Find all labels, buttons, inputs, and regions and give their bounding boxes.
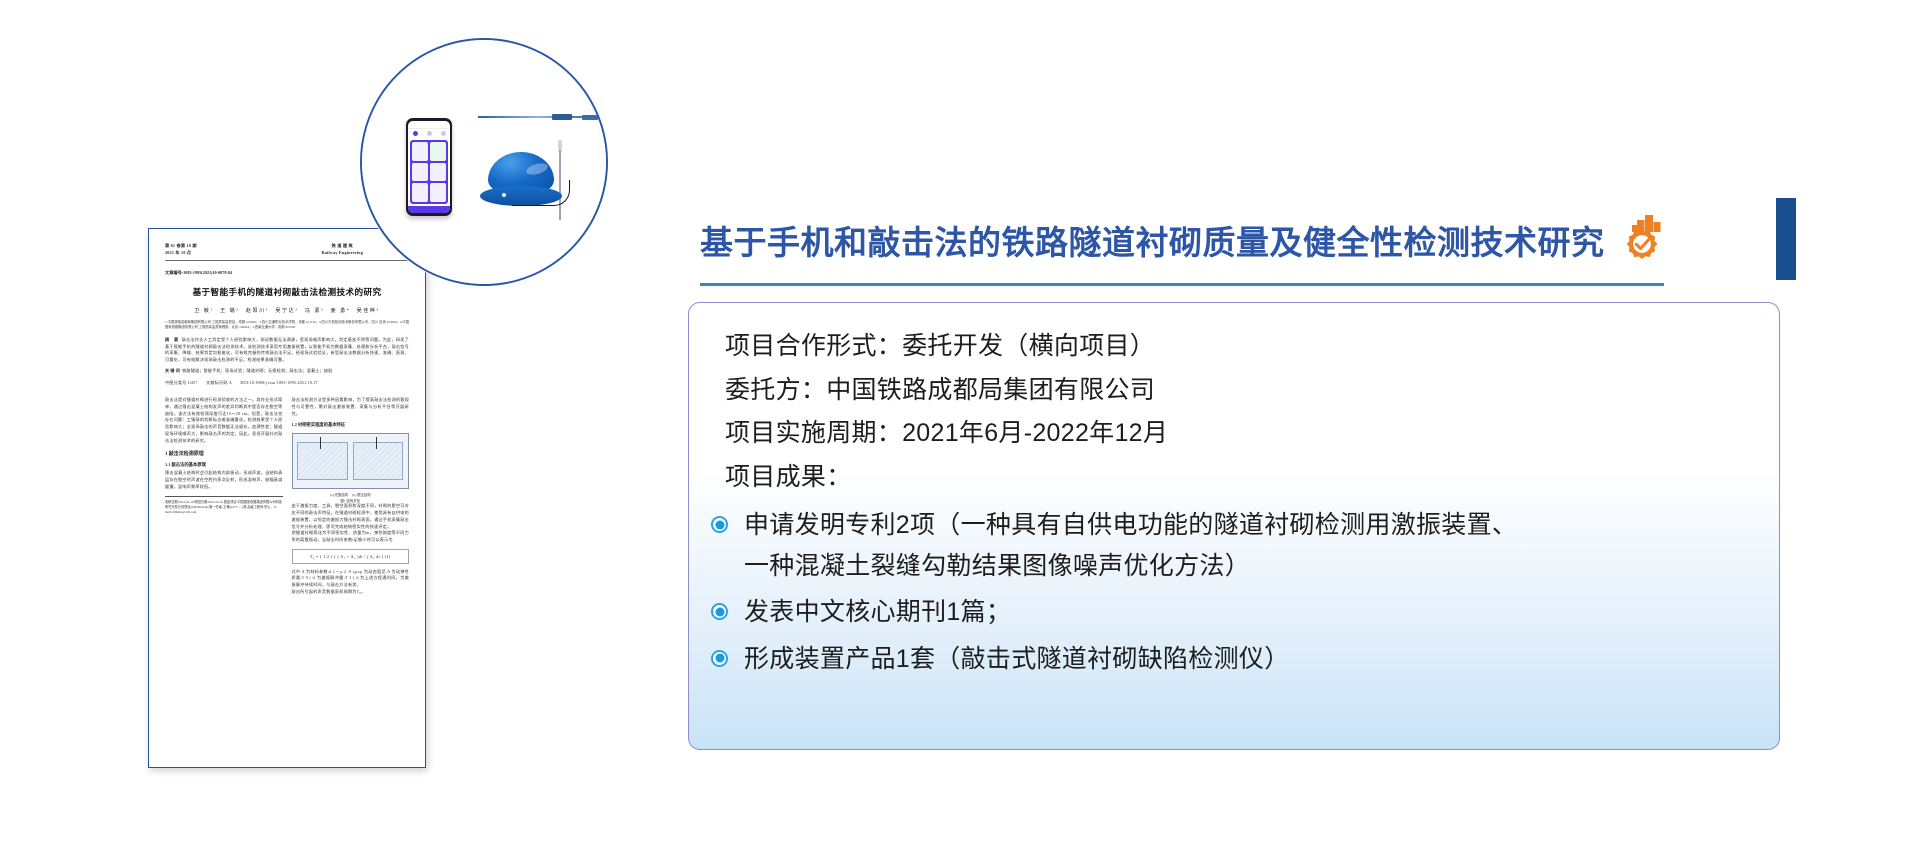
photo-stage xyxy=(362,40,606,284)
helmet-vent xyxy=(502,193,506,197)
phone-app-icons xyxy=(408,129,450,138)
bullet-text-2: 发表中文核心期刊1篇； xyxy=(744,592,1011,633)
page-title: 基于手机和敲击法的铁路隧道衬砌质量及健全性检测技术研究 xyxy=(700,226,1605,259)
paper-affiliations: 1.中国铁路成都局集团有限公司 工程质量监督站，成都 610000；2.四川交通… xyxy=(165,320,409,330)
paper-columns: 敲击法是对隧道衬砌进行检测验收的方法之一。其作业形式简单，通过锤击混凝土结构发声… xyxy=(165,397,409,595)
info-line-outcomes: 项目成果： xyxy=(725,456,1745,500)
bullet-1-line-2: 一种混凝土裂缝勾勒结果图像噪声优化方法） xyxy=(744,546,1517,587)
paper-figure-1 xyxy=(292,433,410,489)
section-title-row: 基于手机和敲击法的铁路隧道衬砌质量及健全性检测技术研究 xyxy=(700,212,1720,272)
list-item: 申请发明专利2项（一种具有自供电功能的隧道衬砌检测用激振装置、 一种混凝土裂缝勾… xyxy=(725,505,1745,586)
paper-footnote: 收稿日期:2021-03-10;修回日期:2021-04-10 基金项目:中国国… xyxy=(165,496,283,515)
paper-heading-1-1: 1.1 敲击法的基本原理 xyxy=(165,462,283,468)
phone-cell-5 xyxy=(412,183,428,202)
bullet-marker-icon xyxy=(711,603,728,620)
list-item: 发表中文核心期刊1篇； xyxy=(725,592,1745,633)
phone-icon-1 xyxy=(413,131,418,136)
phone-cell-4 xyxy=(430,163,446,182)
paper-body-right-1: 由于激振力度、工具、脱空面积和深度不同，衬砌的脱空可对应不同的敲击声特征。在隧道… xyxy=(292,503,410,530)
info-line-client: 委托方：中国铁路成都局集团有限公司 xyxy=(725,369,1745,413)
phone-icon-2 xyxy=(427,131,432,136)
phone-screen xyxy=(408,121,450,213)
paper-figure-subcaptions: (a) 完整结构 (b) 脱空结构 xyxy=(292,492,410,497)
paper-formula-1: T₀ = ( 1/2 )·( ( A₁ + A₂ )dt / ∫ A₁ dt )… xyxy=(292,549,410,564)
bullet-text-3: 形成装置产品1套（敲击式隧道衬砌缺陷检测仪） xyxy=(744,639,1290,680)
paper-body-right-3: 式中:A 为材料参数;d 1 = μ 2 :0 ≤μ≤μ 为动态阻尼;A 为动弹… xyxy=(292,569,410,589)
bullet-marker-icon xyxy=(711,650,728,667)
paper-journal-en: Railway Engineering xyxy=(322,250,363,257)
paper-body-right-2: 把隧道衬砌简化为不同密实性、质量为m，弹性刚度等不同力系的离散振动，当敲击时间参… xyxy=(292,530,410,543)
sensor-cable xyxy=(512,180,570,206)
title-divider xyxy=(700,283,1664,286)
phone-navbar xyxy=(408,206,450,213)
equipment-photo-circle xyxy=(360,38,608,286)
paper-authors: 卫 敏¹ 王 璐² 赵阳川³ 吴宁达³ 冯 源³ 姜 勇⁴ 吴佳晔³ xyxy=(165,307,409,314)
phone-statusbar xyxy=(408,121,450,129)
paper-heading-1-2: 1.2 衬砌密实程度的基本特征 xyxy=(292,422,410,428)
list-item: 形成装置产品1套（敲击式隧道衬砌缺陷检测仪） xyxy=(725,639,1745,680)
phone-cell-1 xyxy=(412,142,428,161)
paper-title: 基于智能手机的隧道衬砌敲击法检测技术的研究 xyxy=(165,286,409,298)
smartphone-icon xyxy=(406,118,452,216)
figure-panel-b xyxy=(353,442,404,480)
paper-abstract-text: 敲击法作业人工判定受个人经验影响大，测试数据无法溯源，受现场噪声影响大，判定基准… xyxy=(165,337,409,362)
paper-abstract: 摘 要 敲击法作业人工判定受个人经验影响大，测试数据无法溯源，受现场噪声影响大，… xyxy=(165,337,409,364)
figure-panel-a xyxy=(297,442,348,480)
rod-grip xyxy=(552,114,572,120)
bullet-2-line-1: 发表中文核心期刊1篇； xyxy=(744,598,1011,626)
paper-column-left: 敲击法是对隧道衬砌进行检测验收的方法之一。其作业形式简单，通过锤击混凝土结构发声… xyxy=(165,397,283,595)
right-accent-bar xyxy=(1776,198,1796,280)
paper-body-right-0: 敲击法检测方法受多种因素影响，为了提高敲击法检测的客观性与可靠性，需对敲击激振装… xyxy=(292,397,410,417)
figure-caption-b: (b) 脱空结构 xyxy=(352,493,370,497)
phone-grid xyxy=(410,140,448,204)
paper-body-left-2: 锤击混凝土结构时会引起结构内部振动，形成声波。当结构表层存在脱空时声波在空腔内多… xyxy=(165,470,283,490)
paper-keywords-label: 关键词 xyxy=(165,368,181,373)
paper-class-line: 中图分类号 U457 文献标识码 A DOI:10.3969/j.issn.10… xyxy=(165,380,409,387)
bullet-3-line-1: 形成装置产品1套（敲击式隧道衬砌缺陷检测仪） xyxy=(744,645,1290,673)
rod-tip xyxy=(582,115,598,120)
figure-probe-left xyxy=(320,437,321,449)
certificate-check-icon xyxy=(1619,214,1665,266)
figure-probe-right xyxy=(376,437,377,449)
phone-cell-3 xyxy=(412,163,428,182)
phone-icon-3 xyxy=(441,131,446,136)
info-line-period: 项目实施周期：2021年6月-2022年12月 xyxy=(725,412,1745,456)
paper-heading-1: 1 敲击法检测原理 xyxy=(165,450,283,457)
figure-caption-a: (a) 完整结构 xyxy=(330,493,348,497)
paper-keywords-text: 铁路隧道；智能手机；现场试验；隧道衬砌；无损检测；敲击法；混凝土；缺陷 xyxy=(182,368,332,373)
rod-shaft xyxy=(478,116,598,118)
outcome-bullet-list: 申请发明专利2项（一种具有自供电功能的隧道衬砌检测用激振装置、 一种混凝土裂缝勾… xyxy=(725,505,1745,679)
paper-body-left-1: 敲击法是对隧道衬砌进行检测验收的方法之一。其作业形式简单，通过锤击混凝土结构发声… xyxy=(165,397,283,444)
paper-abstract-label: 摘 要 xyxy=(165,337,180,342)
bullet-text-1: 申请发明专利2项（一种具有自供电功能的隧道衬砌检测用激振装置、 一种混凝土裂缝勾… xyxy=(744,505,1517,586)
paper-column-right: 敲击法检测方法受多种因素影响，为了提高敲击法检测的客观性与可靠性，需对敲击激振装… xyxy=(292,397,410,595)
paper-preview-card: 第 61 卷第 10 期 2021 年 10 月 铁 道 建 筑 Railway… xyxy=(148,228,426,768)
phone-cell-6 xyxy=(430,183,446,202)
bullet-marker-icon xyxy=(711,516,728,533)
info-line-cooperation: 项目合作形式：委托开发（横向项目） xyxy=(725,325,1745,369)
paper-keywords: 关键词 铁路隧道；智能手机；现场试验；隧道衬砌；无损检测；敲击法；混凝土；缺陷 xyxy=(165,368,409,375)
paper-volume: 第 61 卷第 10 期 2021 年 10 月 xyxy=(165,243,197,256)
paper-volume-line2: 2021 年 10 月 xyxy=(165,250,197,257)
paper-volume-line1: 第 61 卷第 10 期 xyxy=(165,243,197,250)
slide-root: 第 61 卷第 10 期 2021 年 10 月 铁 道 建 筑 Railway… xyxy=(0,0,1920,845)
paper-body-right-4: 敲击所引起的声音数据采样周期为T₀。 xyxy=(292,589,410,596)
project-info-panel: 项目合作形式：委托开发（横向项目） 委托方：中国铁路成都局集团有限公司 项目实施… xyxy=(688,302,1780,750)
paper-page: 第 61 卷第 10 期 2021 年 10 月 铁 道 建 筑 Railway… xyxy=(165,243,409,757)
excitation-rod-icon xyxy=(478,114,598,120)
bullet-1-line-1: 申请发明专利2项（一种具有自供电功能的隧道衬砌检测用激振装置、 xyxy=(744,511,1517,539)
phone-cell-2 xyxy=(430,142,446,161)
